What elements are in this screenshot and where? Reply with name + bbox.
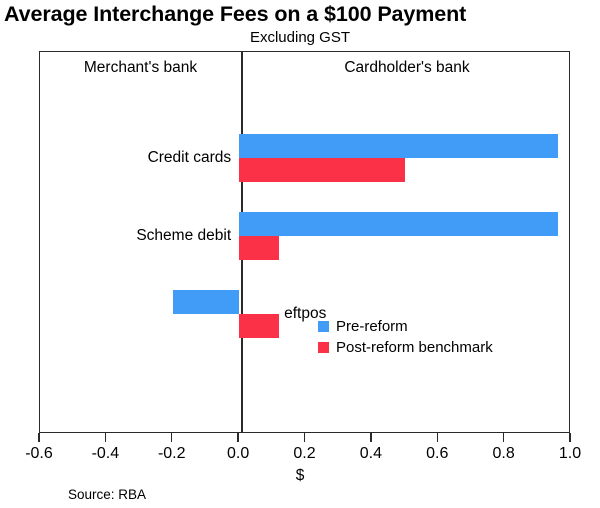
category-label-credit-cards: Credit cards: [148, 148, 232, 168]
x-axis-tick: [38, 433, 39, 442]
x-axis-title: $: [0, 466, 600, 485]
x-axis-tick: [503, 433, 504, 442]
legend-swatch-icon-post-reform-benchmark: [318, 342, 329, 353]
legend-label-pre-reform: Pre-reform: [336, 316, 408, 337]
bar-scheme-debit-pre-reform: [239, 212, 558, 236]
x-axis-tick: [569, 433, 570, 442]
x-axis-tick-label: -0.6: [9, 444, 69, 464]
x-axis-tick: [370, 433, 371, 442]
x-axis-tick: [437, 433, 438, 442]
category-label-scheme-debit: Scheme debit: [136, 226, 231, 246]
x-axis-tick-label: 0.8: [474, 444, 534, 464]
legend-label-post-reform-benchmark: Post-reform benchmark: [336, 337, 493, 358]
legend-item-post-reform-benchmark: Post-reform benchmark: [318, 337, 493, 358]
x-axis-tick-label: -0.2: [142, 444, 202, 464]
bar-eftpos-post-reform-benchmark: [239, 314, 279, 338]
x-axis-tick-label: 0.0: [208, 444, 268, 464]
x-axis-tick-label: 1.0: [540, 444, 600, 464]
bar-eftpos-pre-reform: [173, 290, 239, 314]
bars-layer: Credit cardsScheme debiteftpos: [40, 52, 569, 432]
bar-scheme-debit-post-reform-benchmark: [239, 236, 279, 260]
x-axis-tick-label: 0.6: [407, 444, 467, 464]
x-axis-tick-label: -0.4: [75, 444, 135, 464]
bar-credit-cards-pre-reform: [239, 134, 558, 158]
x-axis-tick: [304, 433, 305, 442]
source-note: Source: RBA: [68, 486, 146, 503]
chart-title: Average Interchange Fees on a $100 Payme…: [4, 1, 596, 27]
chart-subtitle: Excluding GST: [0, 28, 600, 48]
legend-item-pre-reform: Pre-reform: [318, 316, 493, 337]
x-axis-tick-label: 0.2: [275, 444, 335, 464]
legend-swatch-icon-pre-reform: [318, 321, 329, 332]
x-axis-tick: [105, 433, 106, 442]
x-axis-tick-label: 0.4: [341, 444, 401, 464]
plot-area: Merchant's bank Cardholder's bank Credit…: [39, 51, 570, 433]
x-axis-tick: [237, 433, 238, 442]
chart-legend: Pre-reform Post-reform benchmark: [318, 316, 493, 358]
x-axis-tick: [171, 433, 172, 442]
bar-credit-cards-post-reform-benchmark: [239, 158, 405, 182]
